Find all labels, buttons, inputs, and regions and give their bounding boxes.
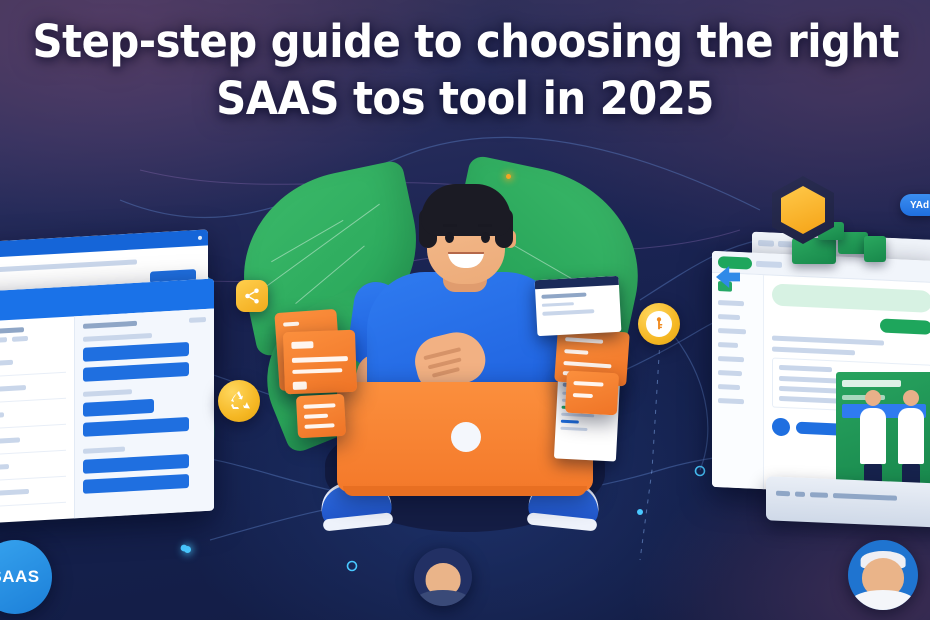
- network-dot: [184, 546, 191, 553]
- laptop-base: [343, 486, 587, 496]
- recycle-coin-icon: [218, 380, 260, 422]
- sidebar-item-reports[interactable]: [718, 300, 744, 306]
- key-icon: [651, 316, 667, 332]
- orange-card-3: [296, 394, 346, 438]
- orange-card-2: [283, 330, 357, 394]
- orange-card-5: [565, 371, 619, 416]
- illustration-person-1: [860, 390, 886, 494]
- left-dashboard-window-main[interactable]: [0, 279, 214, 526]
- share-nodes-icon: [243, 287, 261, 305]
- sidebar-item-customers[interactable]: [718, 342, 738, 348]
- hero-banner: Step-step guide to choosing the right SA…: [0, 0, 930, 620]
- cta-pill-button[interactable]: YAd: [900, 194, 930, 216]
- chip-item[interactable]: [83, 474, 189, 494]
- eyebrow-left: [443, 224, 457, 227]
- title-line-1: Step-step guide to choosing the right: [33, 14, 898, 70]
- saas-logo-badge: SAAS: [0, 540, 52, 614]
- key-coin-icon: [638, 303, 680, 345]
- title-line-2: SAAS tos tool in 2025: [33, 70, 898, 128]
- avatar-right[interactable]: [848, 540, 918, 610]
- table-column: [0, 316, 74, 525]
- sidebar-item-marketing[interactable]: [718, 370, 742, 376]
- laptop-logo-icon: [451, 422, 481, 452]
- eye-right: [481, 232, 490, 243]
- illustration-person-2: [898, 390, 924, 494]
- status-badge: [718, 256, 752, 270]
- floating-green-card-3: [864, 236, 886, 262]
- eye-left: [445, 232, 454, 243]
- avatar-center[interactable]: [414, 548, 472, 606]
- table-row[interactable]: [0, 477, 66, 509]
- notification-card: [535, 276, 622, 336]
- recycle-icon: [227, 389, 251, 413]
- menu-icon: [198, 236, 202, 240]
- hero-title: Step-step guide to choosing the right SA…: [0, 14, 930, 128]
- banner-pill[interactable]: [772, 284, 930, 313]
- saas-badge-label: SAAS: [0, 567, 40, 587]
- chip-item[interactable]: [83, 362, 189, 382]
- sidebar-nav[interactable]: [712, 273, 764, 489]
- sidebar-item-orders[interactable]: [718, 314, 740, 320]
- eyebrow-right: [478, 224, 492, 227]
- avatar: [772, 418, 790, 437]
- share-badge-icon: [236, 280, 268, 312]
- floating-green-card-1: [792, 238, 836, 264]
- keyboard-illustration: [766, 476, 930, 527]
- sidebar-item-analytics[interactable]: [718, 356, 744, 362]
- chip-item[interactable]: [83, 454, 189, 474]
- network-dot-accent: [506, 174, 511, 179]
- sidebar-item-products[interactable]: [718, 328, 746, 334]
- hair: [421, 184, 511, 236]
- chip-item[interactable]: [83, 417, 189, 437]
- chip-item[interactable]: [83, 342, 189, 362]
- cta-button[interactable]: [880, 318, 930, 334]
- sidebar-item-discounts[interactable]: [718, 384, 740, 390]
- chip-item[interactable]: [83, 399, 154, 417]
- promo-green-panel: [836, 372, 930, 494]
- detail-panel: [74, 309, 214, 519]
- sidebar-item-settings[interactable]: [718, 398, 744, 404]
